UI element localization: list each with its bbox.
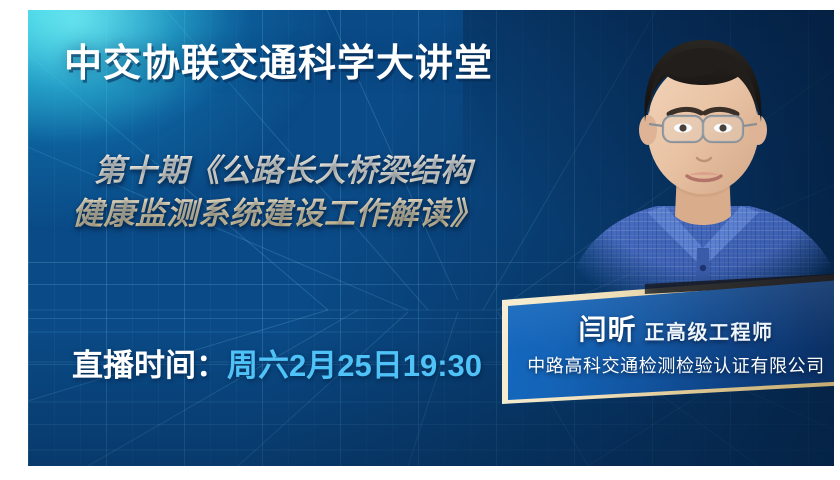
broadcast-time: 直播时间：周六2月25日19:30 — [72, 340, 482, 385]
speaker-portrait — [553, 10, 834, 310]
poster-canvas: 中交协联交通科学大讲堂 第十期《公路长大桥梁结构 健康监测系统建设工作解读》 直… — [28, 10, 834, 466]
subtitle-line-2: 健康监测系统建设工作解读》 — [72, 193, 592, 236]
page-title: 中交协联交通科学大讲堂 — [64, 32, 493, 87]
nameplate-primary-line: 闫昕正高级工程师 — [496, 308, 834, 348]
speaker-nameplate: 闫昕正高级工程师 中路高科交通检测检验认证有限公司 — [496, 272, 834, 412]
nameplate-text: 闫昕正高级工程师 中路高科交通检测检验认证有限公司 — [496, 272, 834, 412]
speaker-organization: 中路高科交通检测检验认证有限公司 — [496, 352, 834, 378]
speaker-role: 正高级工程师 — [645, 322, 774, 344]
subtitle: 第十期《公路长大桥梁结构 健康监测系统建设工作解读》 — [72, 150, 592, 236]
poster-frame: 中交协联交通科学大讲堂 第十期《公路长大桥梁结构 健康监测系统建设工作解读》 直… — [0, 0, 840, 480]
broadcast-time-value: 周六2月25日19:30 — [227, 348, 482, 383]
broadcast-time-label: 直播时间： — [72, 348, 227, 383]
speaker-name: 闫昕 — [578, 314, 636, 345]
subtitle-line-1: 第十期《公路长大桥梁结构 — [72, 150, 592, 193]
